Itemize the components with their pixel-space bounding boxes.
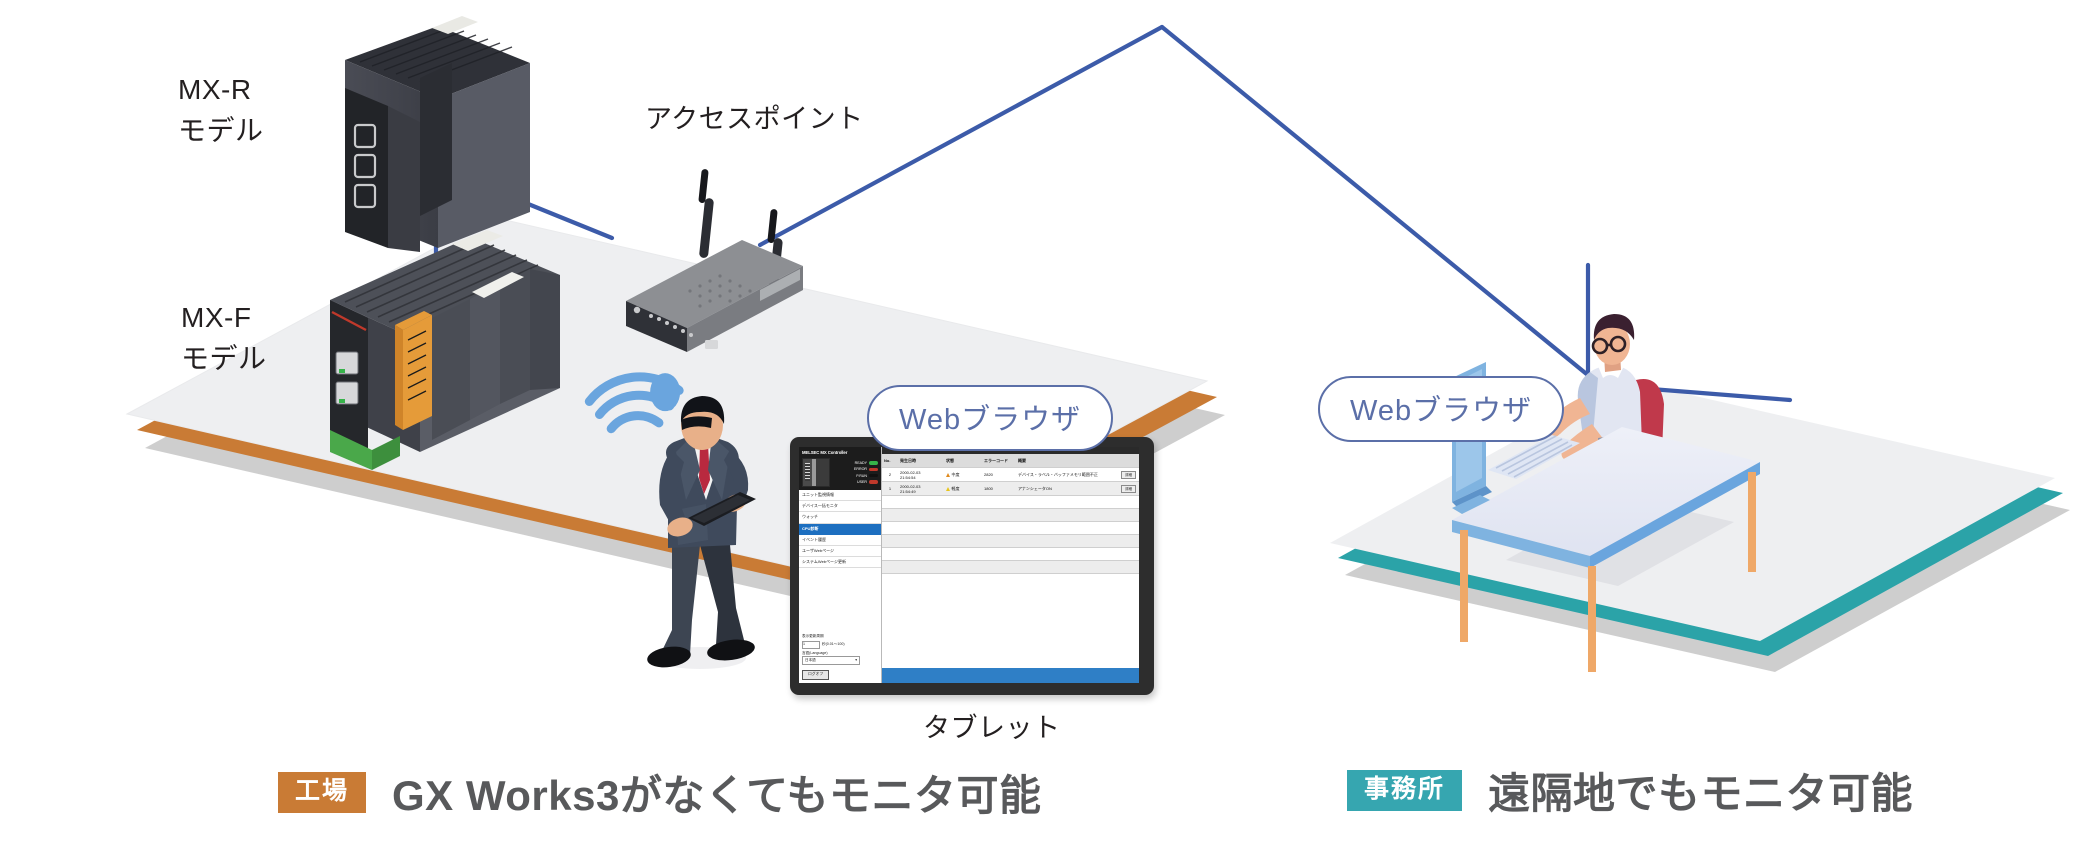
cell-summary: デバイス・ラベル・バッファメモリ範囲不正 — [1016, 470, 1104, 479]
th-errorcode: エラーコード — [982, 454, 1016, 467]
refresh-interval-label: 表示更新周期 — [802, 634, 878, 639]
nav-item-system-web-update[interactable]: システムWebページ更新 — [799, 557, 881, 568]
refresh-interval-input[interactable]: 1 — [802, 641, 820, 649]
th-datetime: 発生日時 — [898, 454, 944, 467]
label-mx-f-model: MX-F モデル — [181, 298, 267, 379]
tablet-device: MELSEC MX Controller READY ERROR — [790, 437, 1154, 695]
badge-factory: 工場 — [278, 772, 366, 813]
table-row-empty — [882, 548, 1139, 561]
nav-item-unit-monitor[interactable]: ユニット監視情報 — [799, 490, 881, 501]
cell-datetime: 2000-02-03 21:54:49 — [898, 482, 944, 495]
table-row-empty — [882, 535, 1139, 548]
table-row-empty — [882, 561, 1139, 574]
refresh-interval-unit: 秒(0.01～100) — [822, 642, 845, 647]
led-row: ERROR — [833, 467, 878, 471]
led-row: READY — [833, 461, 878, 465]
label-mx-r-model: MX-R モデル — [178, 70, 264, 151]
cpu-thumbnail-icon — [802, 458, 830, 487]
table-row-empty — [882, 496, 1139, 509]
label-access-point: アクセスポイント — [645, 100, 864, 139]
cell-summary: アナンシェータON — [1016, 484, 1104, 493]
cell-errorcode: 2820 — [982, 471, 1016, 479]
severity-label: 中度 — [952, 472, 960, 478]
diagram-canvas: MELSEC MX Controller READY ERROR — [0, 0, 2100, 841]
led-label: USER — [857, 480, 867, 484]
cell-status: 軽度 — [944, 484, 982, 493]
web-sidebar: MELSEC MX Controller READY ERROR — [799, 447, 882, 683]
led-row: USER — [833, 480, 878, 484]
led-dot-prun — [869, 474, 878, 478]
chevron-down-icon: ▾ — [855, 658, 857, 662]
table-header-row: No. 発生日時 状態 エラーコード 概要 — [882, 454, 1139, 468]
web-main: No. 発生日時 状態 エラーコード 概要 2 2000-02-03 21:54… — [882, 447, 1139, 683]
label-tablet: タブレット — [923, 709, 1061, 748]
table-row-empty — [882, 522, 1139, 535]
warning-triangle-orange-icon — [946, 473, 950, 477]
warning-triangle-yellow-icon — [946, 487, 950, 491]
led-label: P.RUN — [856, 474, 867, 478]
caption-office: 事務所 遠隔地でもモニタ可能 — [1347, 760, 1913, 821]
led-dot-ready — [869, 461, 878, 465]
led-panel: READY ERROR P.RUN USER — [799, 457, 881, 490]
th-status: 状態 — [944, 454, 982, 467]
cell-errorcode: 1800 — [982, 485, 1016, 493]
th-action — [1105, 454, 1139, 467]
led-label: READY — [855, 461, 867, 465]
table-row[interactable]: 1 2000-02-03 21:54:49 軽度 1800 アナンシェータON … — [882, 482, 1139, 496]
web-footer-bar — [882, 668, 1139, 683]
nav-item-device-monitor[interactable]: デバイス一括モニタ — [799, 501, 881, 512]
led-dot-user — [869, 480, 878, 484]
nav-item-cpu-diagnostics[interactable]: CPU診断 — [799, 524, 881, 535]
tablet-screen: MELSEC MX Controller READY ERROR — [799, 447, 1139, 683]
led-dot-error — [869, 468, 878, 472]
error-table: No. 発生日時 状態 エラーコード 概要 2 2000-02-03 21:54… — [882, 454, 1139, 683]
cell-no: 1 — [882, 485, 898, 493]
detail-button[interactable]: 詳細 — [1121, 485, 1136, 492]
language-value: 日本語 — [805, 658, 816, 663]
mx-r-device — [345, 16, 530, 252]
table-row-empty — [882, 509, 1139, 522]
table-row[interactable]: 2 2000-02-03 21:54:54 中度 2820 デバイス・ラベル・バ… — [882, 468, 1139, 482]
logoff-button[interactable]: ログオフ — [802, 670, 829, 680]
detail-button[interactable]: 詳細 — [1121, 471, 1136, 478]
severity-label: 軽度 — [952, 486, 960, 492]
led-row: P.RUN — [833, 474, 878, 478]
cell-datetime: 2000-02-03 21:54:54 — [898, 468, 944, 481]
caption-office-text: 遠隔地でもモニタ可能 — [1488, 760, 1913, 821]
language-select[interactable]: 日本語 ▾ — [802, 656, 860, 665]
led-label: ERROR — [854, 467, 867, 471]
th-no: No. — [882, 454, 898, 467]
table-blank-area — [882, 574, 1139, 668]
badge-office: 事務所 — [1347, 770, 1462, 811]
sidebar-settings: 表示更新周期 1 秒(0.01～100) 言語(Language) 日本語 ▾ … — [799, 631, 881, 683]
web-nav-menu[interactable]: ユニット監視情報 デバイス一括モニタ ウォッチ CPU診断 イベント履歴 ユーザ… — [799, 490, 881, 568]
caption-factory: 工場 GX Works3がなくてもモニタ可能 — [278, 762, 1041, 823]
badge-web-browser-left: Webブラウザ — [867, 385, 1113, 451]
badge-web-browser-right: Webブラウザ — [1318, 376, 1564, 442]
nav-item-watch[interactable]: ウォッチ — [799, 512, 881, 523]
nav-item-event-history[interactable]: イベント履歴 — [799, 535, 881, 546]
caption-factory-text: GX Works3がなくてもモニタ可能 — [392, 762, 1041, 823]
cell-status: 中度 — [944, 470, 982, 479]
cell-no: 2 — [882, 471, 898, 479]
th-summary: 概要 — [1016, 454, 1105, 467]
nav-item-user-web-page[interactable]: ユーザWebページ — [799, 546, 881, 557]
brand-title: MELSEC MX Controller — [799, 447, 881, 457]
